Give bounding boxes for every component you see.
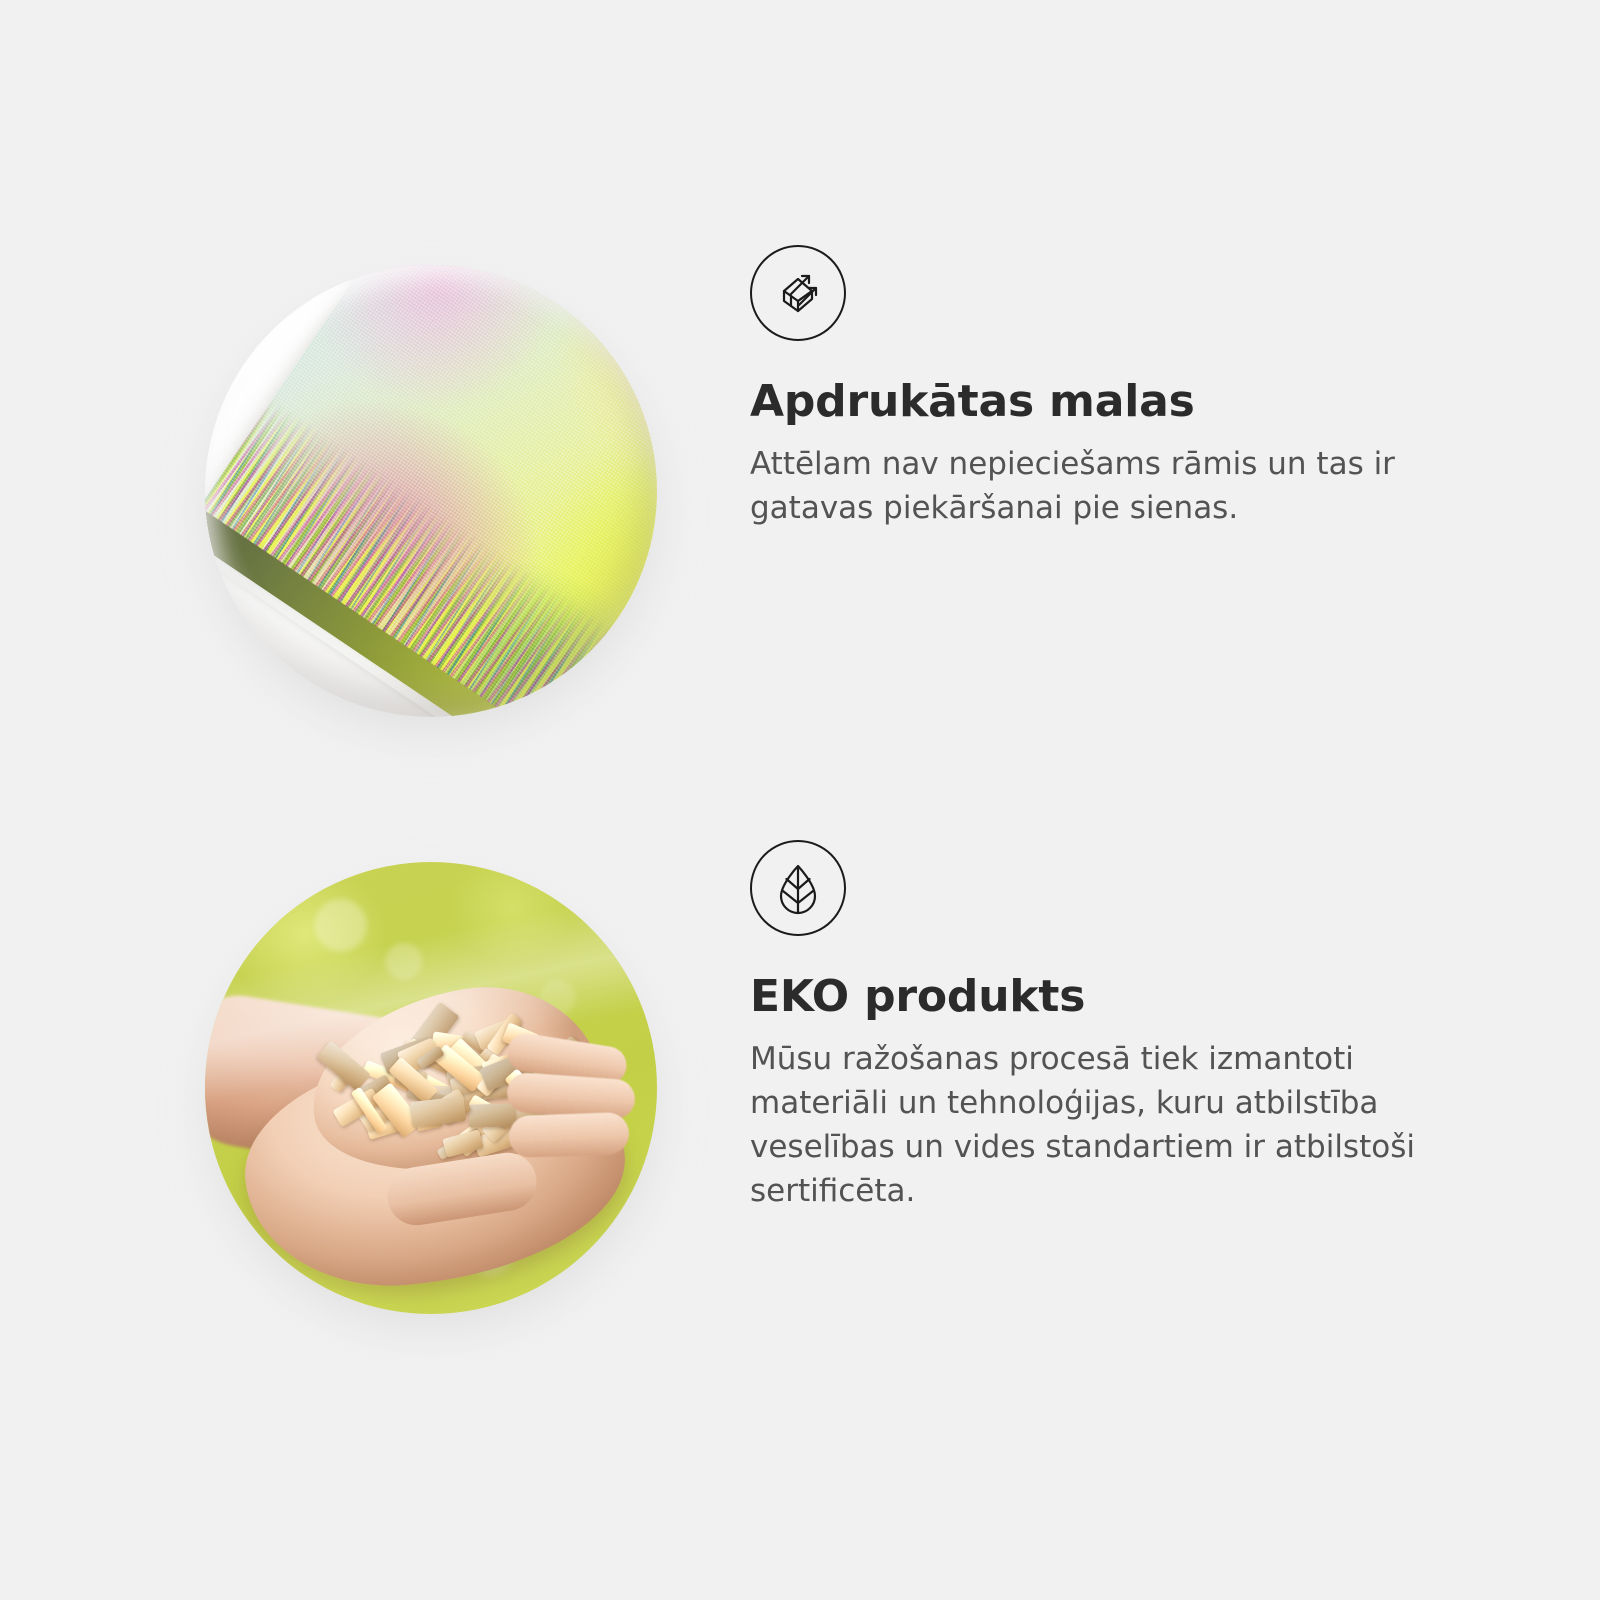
canvas-printed-edge-photo [205,265,657,717]
feature-row-eco-product: EKO produkts Mūsu ražošanas procesā tiek… [0,840,1600,1340]
plate-inner-shading [205,265,657,717]
feature-title: EKO produkts [750,974,1600,1021]
wood-chips-in-hands-photo [205,862,657,1314]
wood-chip [468,1103,516,1127]
media-column [0,245,740,745]
feature-description: Mūsu ražošanas procesā tiek izmantoti ma… [750,1037,1480,1213]
media-column [0,840,740,1340]
feature-description: Attēlam nav nepieciešams rāmis un tas ir… [750,442,1480,530]
leaf-icon [750,840,846,936]
feature-title: Apdrukātas malas [750,379,1600,426]
text-column: Apdrukātas malas Attēlam nav nepieciešam… [740,245,1600,530]
feature-list-page: Apdrukātas malas Attēlam nav nepieciešam… [0,0,1600,1600]
wood-chip [410,1096,467,1127]
finger [508,1112,629,1158]
feature-row-printed-edges: Apdrukātas malas Attēlam nav nepieciešam… [0,245,1600,745]
text-column: EKO produkts Mūsu ražošanas procesā tiek… [740,840,1600,1213]
printed-edges-icon [750,245,846,341]
